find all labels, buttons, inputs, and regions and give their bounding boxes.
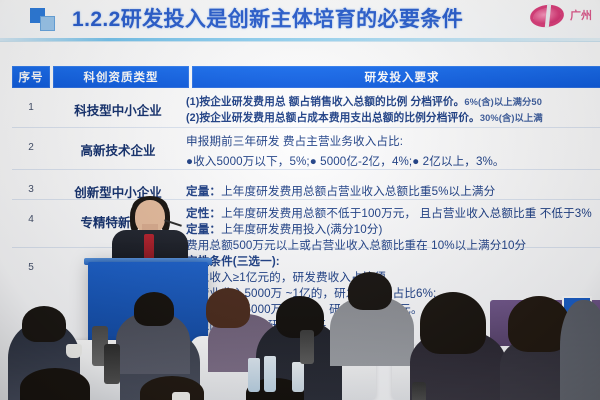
table-row: 1 科技型中小企业 (1)按企业研发费用总 额占销售收入总额的比例 分档评价。6… (12, 88, 600, 128)
table-header-requirement: 研发投入要求 (192, 66, 600, 88)
row-requirement: (1)按企业研发费用总 额占销售收入总额的比例 分档评价。6%(含)以上满分50… (186, 88, 600, 128)
requirement-line: 定量：上年度研发费用投入(满分10分) (186, 222, 600, 238)
row-requirement: 申报期前三年研发 费占主营业务收入占比: ●收入5000万以下，5%;● 500… (186, 128, 600, 170)
requirement-line: 营业收入≥1亿元的，研发费收入占比须 (186, 270, 600, 286)
requirement-line: (1)按企业研发费用总 额占销售收入总额的比例 分档评价。6%(含)以上满分50 (186, 94, 600, 110)
audience-member-head (206, 288, 250, 328)
teacup (66, 344, 82, 358)
audience-member (560, 300, 600, 400)
row-number: 2 (12, 128, 50, 170)
requirement-line: 定性条件(三选一): (186, 254, 600, 270)
audience-member-head (134, 292, 174, 326)
teacup (172, 392, 190, 400)
thermos (300, 330, 314, 364)
table-header-no: 序号 (12, 66, 50, 88)
conference-photo: 1.2.2研发投入是创新主体培育的必要条件 广州 序号 科创资质类型 研发投入要… (0, 0, 600, 400)
requirement-line: 定性：上年度研发费用总额不低于100万元， 且占营业收入总额比重 不低于3% (186, 206, 600, 222)
water-bottle (292, 362, 304, 392)
row-number: 3 (12, 170, 50, 200)
speaker (108, 196, 192, 266)
square-logo-icon (30, 8, 56, 32)
requirement-line: 定量：上年度研发费用总额占营业收入总额比重5%以上满分 (186, 184, 600, 200)
requirement-line: (2)按企业研发费用总额占成本费用支出总额的比例分档评价。30%(含)以上满 (186, 110, 600, 126)
audience-member-head (348, 272, 392, 310)
requirement-line: ●收入5000万以下，5%;● 5000亿-2亿，4%;● 2亿以上，3%。 (186, 154, 600, 170)
water-bottle (264, 356, 276, 392)
row-requirement: 定性：上年度研发费用总额不低于100万元， 且占营业收入总额比重 不低于3% 定… (186, 200, 600, 248)
table-row: 3 创新型中小企业 定量：上年度研发费用总额占营业收入总额比重5%以上满分 (12, 170, 600, 200)
slide-header: 1.2.2研发投入是创新主体培育的必要条件 广州 (0, 0, 600, 40)
audience-member-head (420, 292, 486, 354)
organization-logo: 广州 (530, 4, 600, 30)
audience-member-head (22, 306, 66, 342)
slide-title: 1.2.2研发投入是创新主体培育的必要条件 (72, 5, 492, 35)
requirement-line: 申报期前三年研发 费占主营业务收入占比: (186, 134, 600, 150)
thermos (104, 344, 120, 384)
header-divider-thin (0, 41, 600, 42)
table-header-type: 科创资质类型 (53, 66, 189, 88)
table-row: 2 高新技术企业 申报期前三年研发 费占主营业务收入占比: ●收入5000万以下… (12, 128, 600, 170)
audience-member-head (20, 368, 90, 400)
organization-logo-text: 广州 (570, 7, 592, 23)
row-type: 高新技术企业 (50, 128, 186, 170)
row-type: 科技型中小企业 (50, 88, 186, 128)
row-requirement: 定量：上年度研发费用总额占营业收入总额比重5%以上满分 (186, 170, 600, 200)
table-row: 4 专精特新企业 定性：上年度研发费用总额不低于100万元， 且占营业收入总额比… (12, 200, 600, 248)
thermos (412, 382, 426, 400)
water-bottle (248, 358, 260, 392)
row-number: 4 (12, 200, 50, 248)
table-header-row: 序号 科创资质类型 研发投入要求 (12, 66, 600, 88)
row-number: 1 (12, 88, 50, 128)
circular-logo-icon (529, 3, 566, 30)
